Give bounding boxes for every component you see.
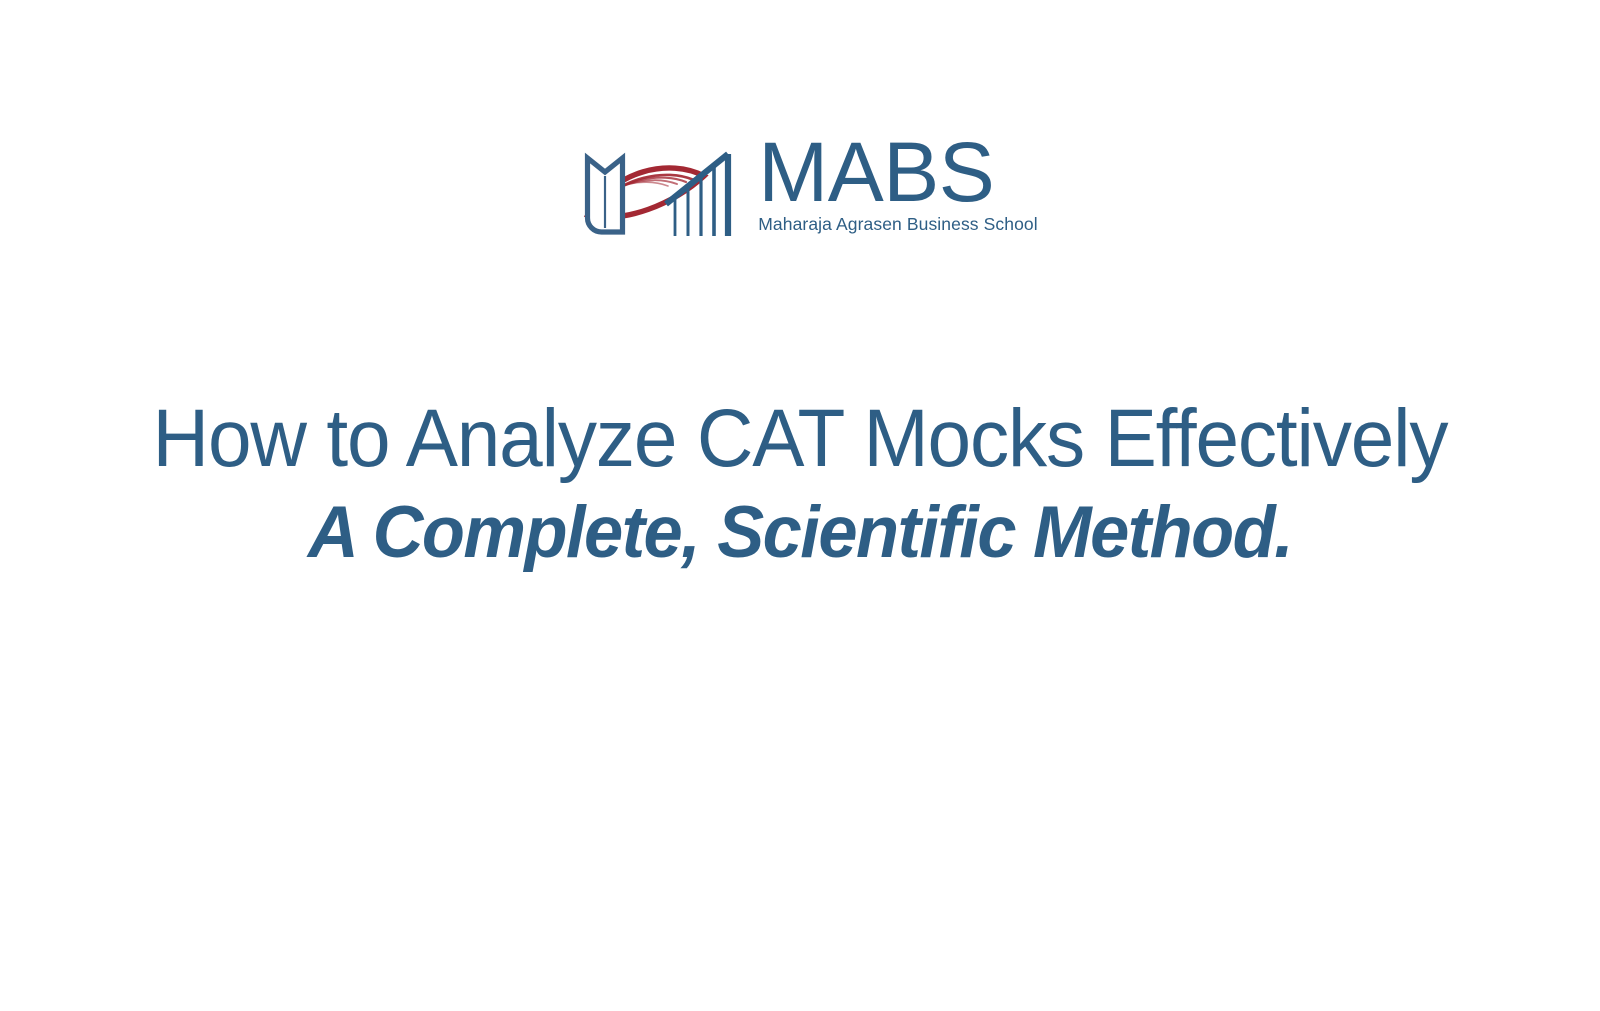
- logo-inner: MABS Maharaja Agrasen Business School: [562, 132, 1037, 248]
- logo-typography: MABS Maharaja Agrasen Business School: [758, 132, 1037, 235]
- mabs-book-bridge-mark-icon: [562, 132, 740, 248]
- slide-title: How to Analyze CAT Mocks Effectively: [36, 396, 1564, 483]
- title-slide: MABS Maharaja Agrasen Business School Ho…: [0, 0, 1600, 1011]
- logo-tagline: Maharaja Agrasen Business School: [758, 215, 1037, 234]
- open-book-shape: [588, 158, 623, 232]
- logo-wordmark: MABS: [758, 134, 1037, 211]
- slide-subtitle: A Complete, Scientific Method.: [28, 494, 1572, 571]
- mabs-logo-lockup: MABS Maharaja Agrasen Business School: [0, 132, 1600, 248]
- headline-block: How to Analyze CAT Mocks Effectively A C…: [0, 396, 1600, 571]
